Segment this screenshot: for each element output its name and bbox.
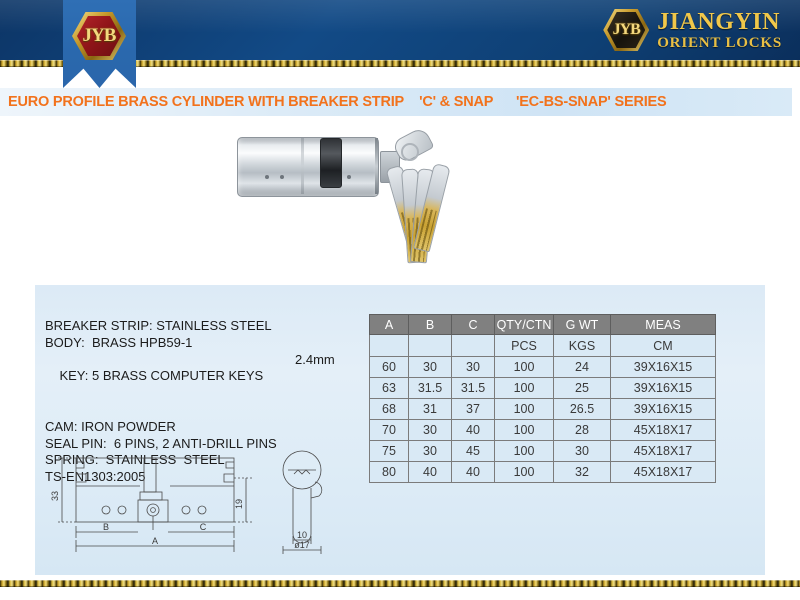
product-photo: [225, 125, 525, 280]
breaker-strip-band: [320, 138, 342, 188]
dim-label-b: B: [103, 522, 109, 532]
table-header-qty: QTY/CTN: [495, 315, 554, 335]
cell-b: 31: [409, 399, 452, 420]
table-row: 75 30 45 100 30 45X18X17: [370, 441, 716, 462]
table-header-gwt: G WT: [554, 315, 611, 335]
cell-c: 40: [452, 420, 495, 441]
spec-line-breaker-strip: BREAKER STRIP: STAINLESS STEEL: [45, 318, 375, 335]
dim-label-a: A: [152, 536, 158, 546]
cylinder-pin-2: [280, 175, 284, 179]
cell-b: 40: [409, 462, 452, 483]
cell-qty: 100: [495, 399, 554, 420]
cell-qty: 100: [495, 441, 554, 462]
cell-c: 30: [452, 357, 495, 378]
table-row: 80 40 40 100 32 45X18X17: [370, 462, 716, 483]
spec-line-key: KEY: 5 BRASS COMPUTER KEYS 2.4mm: [45, 352, 375, 419]
cell-b: 30: [409, 441, 452, 462]
cell-meas: 39X16X15: [611, 378, 716, 399]
cell-gwt: 25: [554, 378, 611, 399]
cylinder-pin-3: [347, 175, 351, 179]
dim-label-diameter: ø17: [294, 540, 310, 550]
unit-qty: PCS: [495, 335, 554, 357]
key-thickness-note: 2.4mm: [295, 352, 335, 369]
unit-meas: CM: [611, 335, 716, 357]
table-header-meas: MEAS: [611, 315, 716, 335]
dimensions-table: A B C QTY/CTN G WT MEAS PCS KGS CM 60 30…: [369, 314, 716, 483]
technical-drawing-front: 33 19 B C A: [40, 448, 270, 558]
technical-drawing-side: 10 ø17: [268, 448, 348, 558]
footer-gold-divider: [0, 580, 800, 587]
brand-hex-logo-icon: JYB: [603, 9, 649, 51]
table-row: 70 30 40 100 28 45X18X17: [370, 420, 716, 441]
cell-a: 75: [370, 441, 409, 462]
page-title-bar: EURO PROFILE BRASS CYLINDER WITH BREAKER…: [0, 88, 792, 116]
cell-gwt: 30: [554, 441, 611, 462]
cell-meas: 45X18X17: [611, 441, 716, 462]
cell-a: 60: [370, 357, 409, 378]
dim-label-height: 33: [50, 491, 60, 501]
table-row: 68 31 37 100 26.5 39X16X15: [370, 399, 716, 420]
spec-line-key-text: KEY: 5 BRASS COMPUTER KEYS: [59, 368, 263, 383]
table-header-c: C: [452, 315, 495, 335]
cell-c: 45: [452, 441, 495, 462]
cell-c: 40: [452, 462, 495, 483]
cell-b: 31.5: [409, 378, 452, 399]
cylinder-pin-1: [265, 175, 269, 179]
cell-a: 68: [370, 399, 409, 420]
cylinder-rib-right: [375, 138, 378, 194]
cell-meas: 39X16X15: [611, 357, 716, 378]
brand-name-primary: JIANGYIN: [657, 10, 782, 34]
unit-gwt: KGS: [554, 335, 611, 357]
cell-qty: 100: [495, 420, 554, 441]
dim-label-cam-height: 19: [234, 499, 244, 509]
key-ring-icon: [401, 143, 419, 161]
dim-label-side-width: 10: [297, 530, 307, 540]
cell-c: 37: [452, 399, 495, 420]
cell-gwt: 28: [554, 420, 611, 441]
page-title: EURO PROFILE BRASS CYLINDER WITH BREAKER…: [8, 94, 667, 110]
cell-qty: 100: [495, 462, 554, 483]
table-units-row: PCS KGS CM: [370, 335, 716, 357]
cell-meas: 39X16X15: [611, 399, 716, 420]
cell-b: 30: [409, 420, 452, 441]
cell-a: 80: [370, 462, 409, 483]
cell-gwt: 32: [554, 462, 611, 483]
table-header-row: A B C QTY/CTN G WT MEAS: [370, 315, 716, 335]
unit-c: [452, 335, 495, 357]
cell-gwt: 26.5: [554, 399, 611, 420]
table-header-a: A: [370, 315, 409, 335]
unit-a: [370, 335, 409, 357]
brand-name-secondary: ORIENT LOCKS: [657, 36, 782, 51]
cell-a: 70: [370, 420, 409, 441]
brand-words: JIANGYIN ORIENT LOCKS: [657, 10, 782, 51]
ribbon-hex-label: JYB: [72, 12, 126, 60]
cell-c: 31.5: [452, 378, 495, 399]
cell-a: 63: [370, 378, 409, 399]
table-row: 60 30 30 100 24 39X16X15: [370, 357, 716, 378]
ribbon-hex-logo-icon: JYB: [72, 12, 126, 60]
spec-line-cam: CAM: IRON POWDER: [45, 419, 375, 436]
table-header-b: B: [409, 315, 452, 335]
cell-meas: 45X18X17: [611, 462, 716, 483]
dim-label-c: C: [200, 522, 207, 532]
brand-hex-label: JYB: [603, 9, 649, 51]
spec-line-body: BODY: BRASS HPB59-1: [45, 335, 375, 352]
corner-ribbon-badge: JYB: [63, 0, 136, 88]
cell-gwt: 24: [554, 357, 611, 378]
cylinder-rib-left: [301, 138, 304, 194]
table-row: 63 31.5 31.5 100 25 39X16X15: [370, 378, 716, 399]
brand-lockup: JYB JIANGYIN ORIENT LOCKS: [603, 7, 782, 53]
cell-qty: 100: [495, 357, 554, 378]
unit-b: [409, 335, 452, 357]
cell-b: 30: [409, 357, 452, 378]
cell-meas: 45X18X17: [611, 420, 716, 441]
cylinder-body: [237, 137, 379, 197]
cell-qty: 100: [495, 378, 554, 399]
